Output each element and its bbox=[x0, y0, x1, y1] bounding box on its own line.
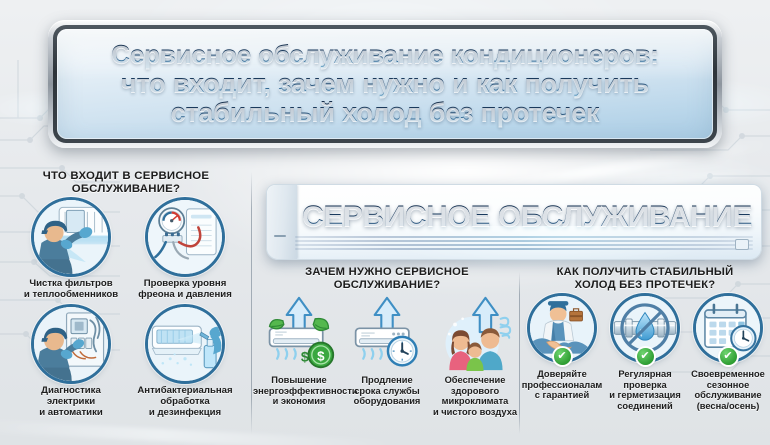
caption-line: энергоэффективности bbox=[253, 386, 345, 397]
right-items-grid: ✔ Доверяйте профессионалам с гарантией bbox=[522, 296, 768, 411]
middle-heading-line-1: ЗАЧЕМ НУЖНО СЕРВИСНОЕ bbox=[264, 266, 510, 279]
section-what-is-included: ЧТО ВХОДИТ В СЕРВИСНОЕ ОБСЛУЖИВАНИЕ? bbox=[4, 166, 248, 441]
caption-line: с гарантией bbox=[520, 390, 604, 401]
check-glyph: ✔ bbox=[640, 348, 649, 365]
headline-line-1: Сервисное обслуживание кондиционеров: bbox=[111, 41, 658, 68]
left-heading-line-1: ЧТО ВХОДИТ В СЕРВИСНОЕ bbox=[10, 170, 242, 183]
right-heading-line-2: ХОЛОД БЕЗ ПРОТЕЧЕК? bbox=[526, 279, 764, 292]
badge-with-check: ✔ bbox=[530, 296, 594, 360]
spray-disinfection-icon bbox=[148, 307, 222, 381]
caption-line: микроклимата bbox=[429, 396, 521, 407]
left-heading-line-2: ОБСЛУЖИВАНИЕ? bbox=[10, 183, 242, 196]
ac-louvers bbox=[295, 236, 753, 252]
caption-line: и теплообменников bbox=[15, 290, 127, 301]
pressure-gauge-manifold-icon bbox=[148, 200, 222, 274]
left-column-heading: ЧТО ВХОДИТ В СЕРВИСНОЕ ОБСЛУЖИВАНИЕ? bbox=[10, 170, 242, 197]
list-item-caption: Повышение энергоэффективности и экономия bbox=[253, 375, 345, 407]
ac-display-led bbox=[735, 239, 749, 250]
check-mark-icon: ✔ bbox=[720, 348, 737, 365]
svg-text:$: $ bbox=[317, 349, 325, 364]
list-item: Чистка фильтров и теплообменников bbox=[14, 200, 128, 301]
check-mark-icon: ✔ bbox=[637, 348, 654, 365]
list-item: ✔ Своевременное сезонное обслуживание (в… bbox=[688, 296, 768, 411]
caption-line: фреона и давления bbox=[129, 290, 241, 301]
caption-line: и чистого воздуха bbox=[429, 407, 521, 418]
headline-line-3-text: стабильный холод без протечек bbox=[171, 97, 600, 127]
ac-unit-body: СЕРВИСНОЕ ОБСЛУЖИВАНИЕ bbox=[266, 184, 762, 260]
caption-line: сезонное bbox=[686, 380, 770, 391]
right-column-heading: КАК ПОЛУЧИТЬ СТАБИЛЬНЫЙ ХОЛОД БЕЗ ПРОТЕЧ… bbox=[526, 266, 764, 292]
section-how-to-get-stable-cooling: КАК ПОЛУЧИТЬ СТАБИЛЬНЫЙ ХОЛОД БЕЗ ПРОТЕЧ… bbox=[522, 264, 768, 444]
list-item-caption: Диагностика электрики и автоматики bbox=[15, 386, 127, 419]
list-item: Антибактериальная обработка и дезинфекци… bbox=[128, 307, 242, 419]
electrical-panel-diagnostics-icon bbox=[34, 307, 108, 381]
banner-title-text: СЕРВИСНОЕ ОБСЛУЖИВАНИЕ bbox=[302, 200, 752, 234]
list-item: Диагностика электрики и автоматики bbox=[14, 307, 128, 419]
infographic-canvas: Сервисное обслуживание кондиционеров: чт… bbox=[0, 0, 770, 445]
list-item: Проверка уровня фреона и давления bbox=[128, 200, 242, 301]
ac-side-cap bbox=[267, 185, 297, 259]
list-item-caption: Обеспечение здорового микроклимата и чис… bbox=[429, 375, 521, 417]
caption-line: и экономия bbox=[253, 396, 345, 407]
list-item-caption: Чистка фильтров и теплообменников bbox=[15, 279, 127, 301]
healthy-family-air-icon bbox=[432, 296, 518, 372]
caption-line: профессионалам bbox=[520, 380, 604, 391]
banner-title: СЕРВИСНОЕ ОБСЛУЖИВАНИЕ bbox=[307, 197, 747, 237]
caption-line: Продление bbox=[341, 375, 433, 386]
list-item: ✔ Доверяйте профессионалам с гарантией bbox=[522, 296, 602, 411]
svg-text:$: $ bbox=[301, 350, 309, 366]
list-item-caption: Проверка уровня фреона и давления bbox=[129, 279, 241, 301]
caption-line: проверка bbox=[603, 380, 687, 391]
list-item-caption: Своевременное сезонное обслуживание (вес… bbox=[686, 369, 770, 411]
check-glyph: ✔ bbox=[723, 348, 732, 365]
caption-line: Доверяйте bbox=[520, 369, 604, 380]
caption-line: (весна/осень) bbox=[686, 401, 770, 412]
eco-savings-ac-icon: $ $ bbox=[256, 296, 342, 372]
list-item-caption: Доверяйте профессионалам с гарантией bbox=[520, 369, 604, 401]
headline-line-2-text: что входит, зачем нужно и как получить bbox=[121, 68, 649, 98]
caption-line: Повышение bbox=[253, 375, 345, 386]
check-mark-icon: ✔ bbox=[554, 348, 571, 365]
list-item-caption: Продление срока службы оборудования bbox=[341, 375, 433, 407]
list-item: Обеспечение здорового микроклимата и чис… bbox=[432, 296, 518, 417]
plaque-face: Сервисное обслуживание кондиционеров: чт… bbox=[57, 29, 713, 139]
air-conditioner-banner: СЕРВИСНОЕ ОБСЛУЖИВАНИЕ bbox=[266, 184, 762, 260]
list-item-caption: Регулярная проверка и герметизация соеди… bbox=[603, 369, 687, 411]
section-why-needed: ЗАЧЕМ НУЖНО СЕРВИСНОЕ ОБСЛУЖИВАНИЕ? bbox=[256, 264, 518, 444]
list-item: ✔ Регулярная проверка и герметизация сое… bbox=[605, 296, 685, 411]
middle-column-heading: ЗАЧЕМ НУЖНО СЕРВИСНОЕ ОБСЛУЖИВАНИЕ? bbox=[264, 266, 510, 292]
caption-line: здорового bbox=[429, 386, 521, 397]
caption-line: и герметизация bbox=[603, 390, 687, 401]
clock-lifespan-ac-icon bbox=[344, 296, 430, 372]
headline-plaque: Сервисное обслуживание кондиционеров: чт… bbox=[48, 20, 722, 148]
list-item-caption: Антибактериальная обработка и дезинфекци… bbox=[129, 386, 241, 419]
filter-cleaning-technician-icon bbox=[34, 200, 108, 274]
column-divider-left bbox=[251, 172, 252, 434]
list-item: $ $ Повышение энергоэффективности и экон… bbox=[256, 296, 342, 417]
headline-line-2: что входит, зачем нужно и как получить bbox=[121, 70, 649, 98]
list-item: Продление срока службы оборудования bbox=[344, 296, 430, 417]
badge-with-check: ✔ bbox=[696, 296, 760, 360]
caption-line: срока службы bbox=[341, 386, 433, 397]
caption-line: и автоматики bbox=[15, 408, 127, 419]
headline-line-1-text: Сервисное обслуживание кондиционеров: bbox=[111, 39, 658, 69]
caption-line: и дезинфекция bbox=[129, 408, 241, 419]
badge-with-check: ✔ bbox=[613, 296, 677, 360]
caption-line: Регулярная bbox=[603, 369, 687, 380]
caption-line: оборудования bbox=[341, 396, 433, 407]
middle-heading-line-2: ОБСЛУЖИВАНИЕ? bbox=[264, 279, 510, 292]
caption-line: Обеспечение bbox=[429, 375, 521, 386]
check-glyph: ✔ bbox=[557, 348, 566, 365]
headline-line-3: стабильный холод без протечек bbox=[171, 99, 600, 127]
middle-items-grid: $ $ Повышение энергоэффективности и экон… bbox=[256, 296, 518, 417]
right-heading-line-1: КАК ПОЛУЧИТЬ СТАБИЛЬНЫЙ bbox=[526, 266, 764, 279]
caption-line: обслуживание bbox=[686, 390, 770, 401]
caption-line: Своевременное bbox=[686, 369, 770, 380]
left-items-grid: Чистка фильтров и теплообменников bbox=[14, 200, 242, 421]
caption-line: соединений bbox=[603, 401, 687, 412]
